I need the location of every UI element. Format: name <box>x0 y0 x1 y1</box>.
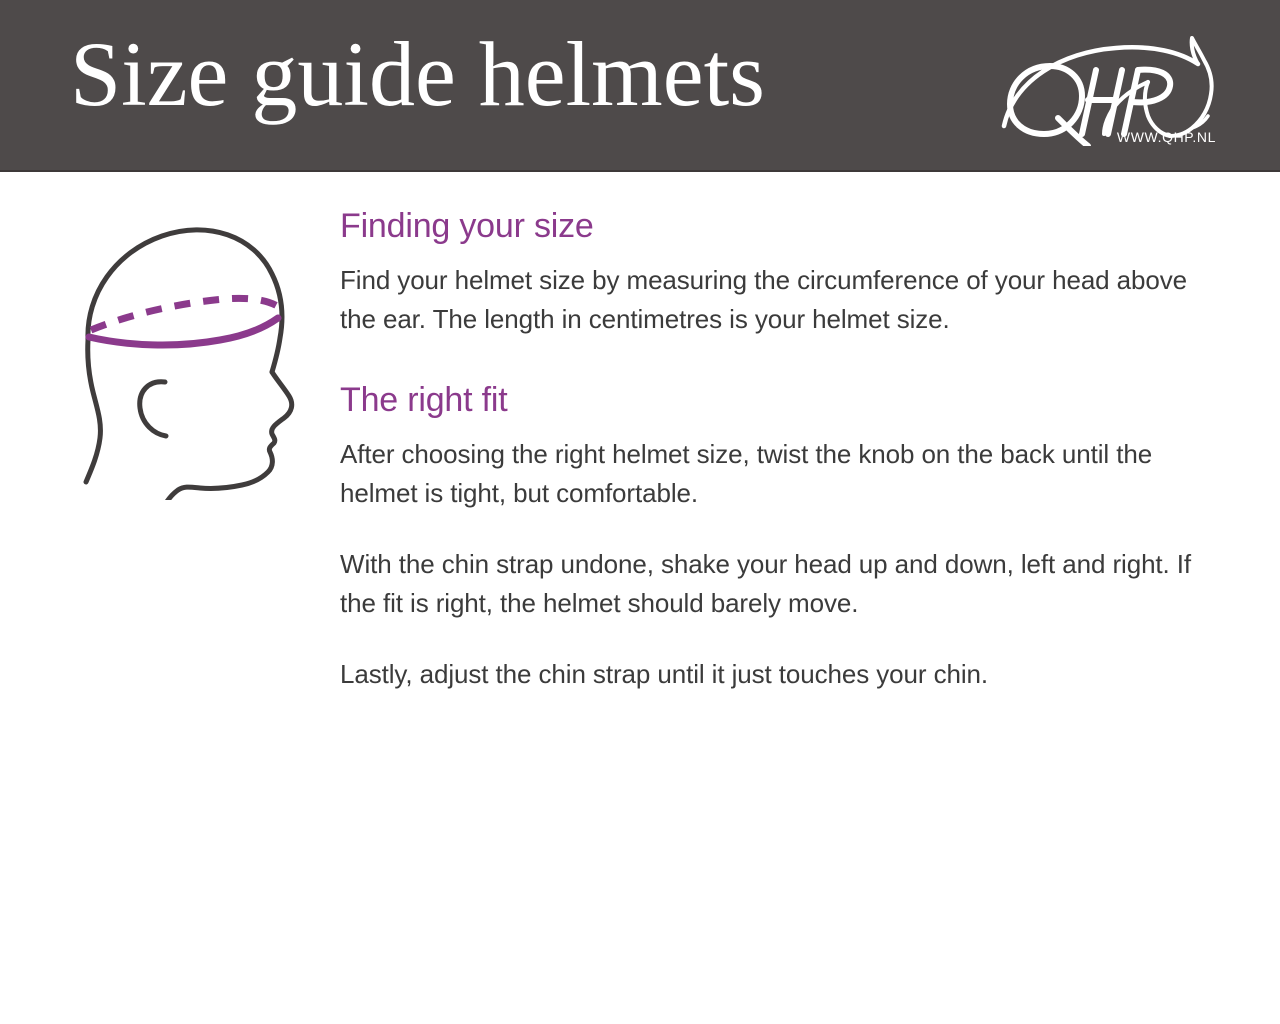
logo-url-text: WWW.QHP.NL <box>1117 129 1216 145</box>
qhp-logo[interactable]: WWW.QHP.NL <box>992 30 1218 146</box>
face-profile <box>162 372 292 500</box>
spacer <box>340 513 1200 545</box>
spacer <box>340 339 1200 379</box>
paragraph-finding-your-size-1: Find your helmet size by measuring the c… <box>340 261 1200 339</box>
measure-band-dashed <box>91 298 279 330</box>
skull-outline <box>86 230 282 482</box>
section-heading-the-right-fit: The right fit <box>340 379 1200 421</box>
spacer <box>340 247 1200 261</box>
spacer <box>340 623 1200 655</box>
content-column: Finding your size Find your helmet size … <box>340 205 1200 694</box>
spacer <box>340 421 1200 435</box>
paragraph-the-right-fit-3: Lastly, adjust the chin strap until it j… <box>340 655 1200 694</box>
measure-band-solid <box>89 318 278 345</box>
section-heading-finding-your-size: Finding your size <box>340 205 1200 247</box>
page-title: Size guide helmets <box>70 22 765 126</box>
paragraph-the-right-fit-2: With the chin strap undone, shake your h… <box>340 545 1200 623</box>
head-profile-illustration <box>58 190 328 500</box>
page-header: Size guide helmets WWW.QHP.NL <box>0 0 1280 172</box>
paragraph-the-right-fit-1: After choosing the right helmet size, tw… <box>340 435 1200 513</box>
ear-arc <box>140 382 166 436</box>
